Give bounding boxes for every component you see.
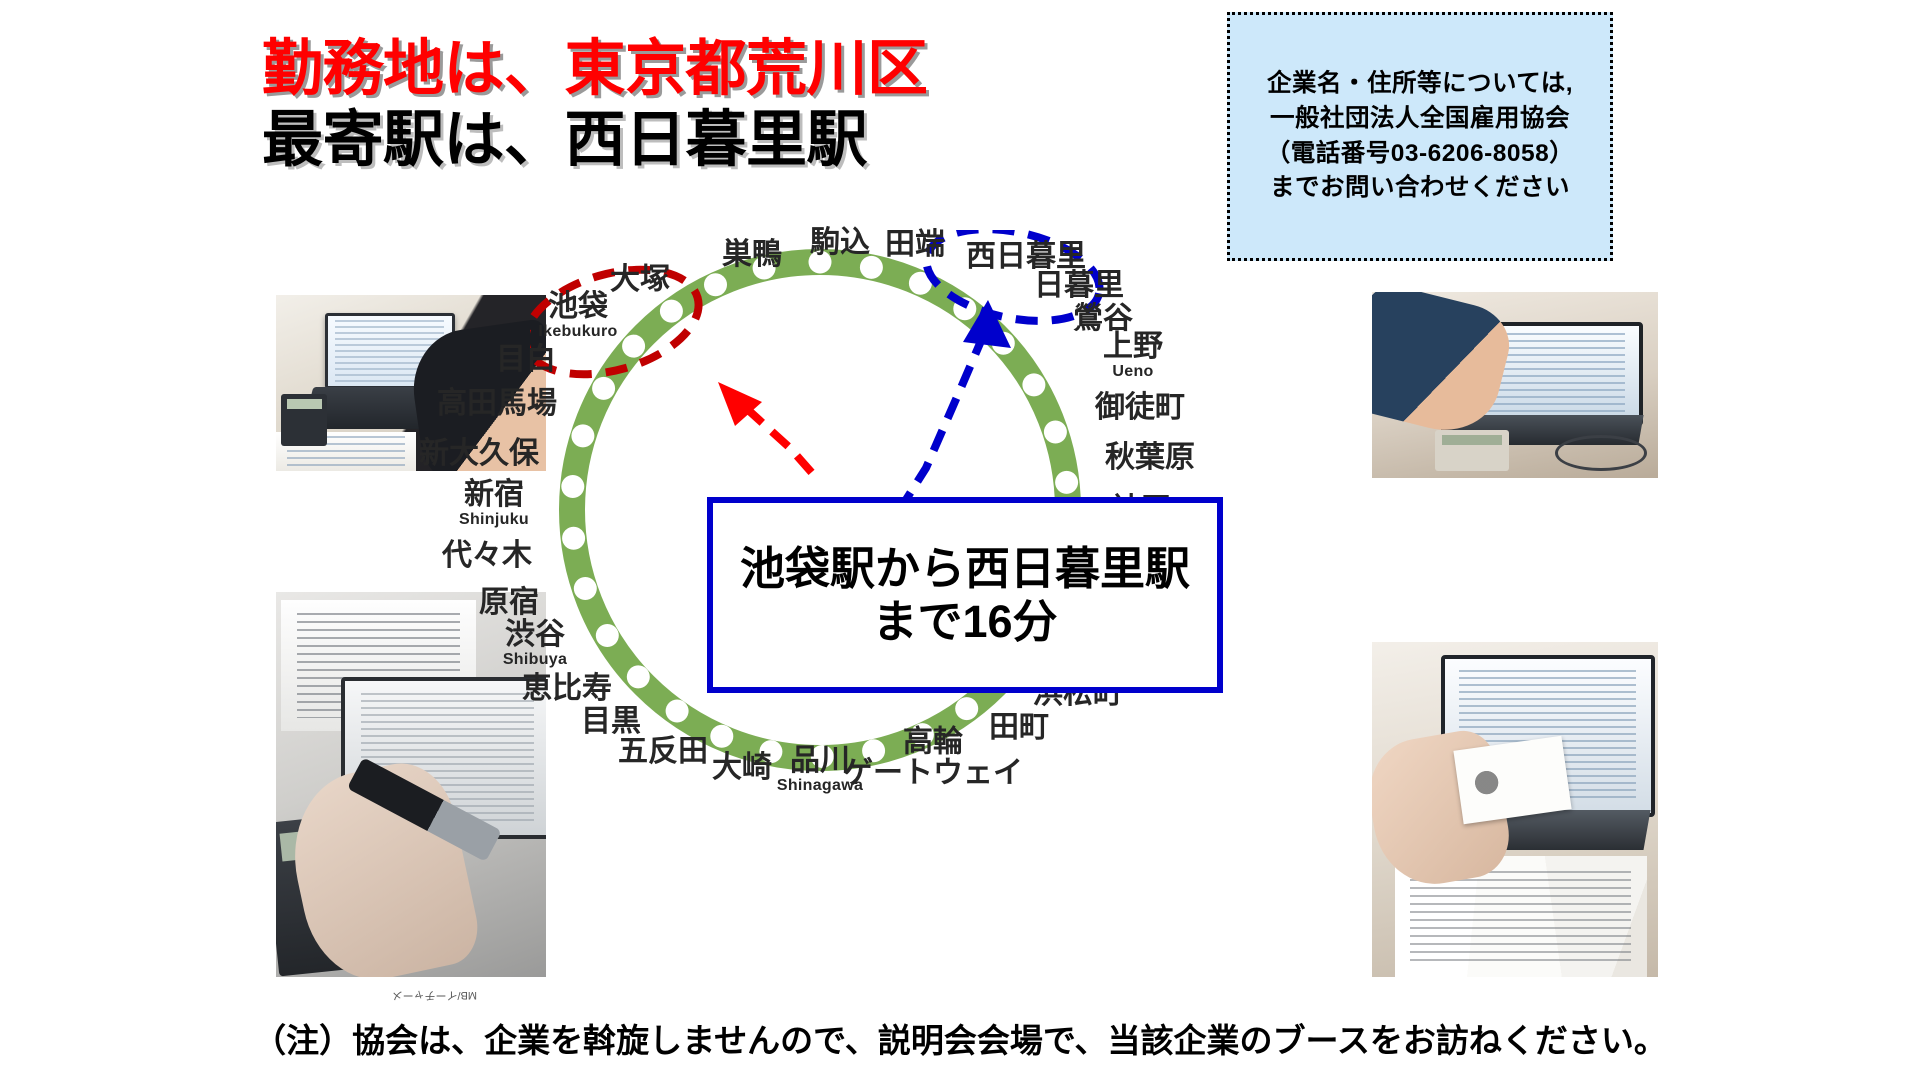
footer-note: （注）協会は、企業を斡旋しませんので、説明会会場で、当該企業のブースをお訪ねくだ… <box>0 1014 1920 1062</box>
station-label-nishinippori: 西日暮里 <box>966 242 1086 272</box>
station-label: 秋葉原 <box>1105 443 1195 473</box>
station-label: 大塚 <box>610 265 670 295</box>
photo-receipts-bottom-right <box>1372 642 1658 977</box>
station-label-takanawa-gateway: 高輪ゲートウェイ <box>843 727 1023 788</box>
station-label-ueno: 上野Ueno <box>1103 332 1163 380</box>
station-label: 恵比寿 <box>522 674 612 704</box>
station-label-shibuya: 渋谷Shibuya <box>503 620 567 668</box>
station-label: 日暮里 <box>1034 271 1124 301</box>
station-label: 高田馬場 <box>437 389 557 419</box>
info-line-3: （電話番号03-6206-8058） <box>1266 137 1575 172</box>
station-label-shinagawa: 品川Shinagawa <box>777 746 863 794</box>
station-label: 代々木 <box>442 541 532 571</box>
station-label: 巣鴨 <box>722 240 782 270</box>
station-label-shinjuku: 新宿Shinjuku <box>459 480 529 528</box>
station-label: 目白 <box>496 345 556 375</box>
arrow-to-ikebukuro <box>718 382 820 482</box>
info-line-1: 企業名・住所等については, <box>1267 67 1573 102</box>
station-label: 目黒 <box>581 707 641 737</box>
info-line-4: までお問い合わせください <box>1270 171 1570 206</box>
station-label: 原宿 <box>479 588 539 618</box>
page-title: 勤務地は、東京都荒川区 最寄駅は、西日暮里駅 <box>262 36 1082 171</box>
arrow-to-nishinippori <box>902 300 1011 506</box>
station-label: 駒込 <box>810 228 870 258</box>
station-label-ikebukuro: 池袋Ikebukuro <box>538 292 617 340</box>
station-label: 御徒町 <box>1095 393 1185 423</box>
title-line-2: 最寄駅は、西日暮里駅 <box>262 107 1082 172</box>
photo-typing-laptop-top-right <box>1372 292 1658 478</box>
travel-time-callout: 池袋駅から西日暮里駅 まで16分 <box>707 497 1223 693</box>
station-label: 田端 <box>885 230 945 260</box>
station-label: 新大久保 <box>419 439 539 469</box>
station-label: 大崎 <box>712 753 772 783</box>
credit-mark: MB/イーチャーメ <box>392 988 477 1004</box>
info-line-2: 一般社団法人全国雇用協会 <box>1270 102 1570 137</box>
slide-root: 勤務地は、東京都荒川区 最寄駅は、西日暮里駅 企業名・住所等については, 一般社… <box>0 0 1920 1080</box>
station-label: 五反田 <box>618 737 708 767</box>
callout-line-1: 池袋駅から西日暮里駅 <box>740 542 1190 595</box>
callout-line-2: まで16分 <box>872 595 1057 648</box>
title-line-1: 勤務地は、東京都荒川区 <box>262 36 1082 101</box>
contact-info-box: 企業名・住所等については, 一般社団法人全国雇用協会 （電話番号03-6206-… <box>1227 12 1613 261</box>
